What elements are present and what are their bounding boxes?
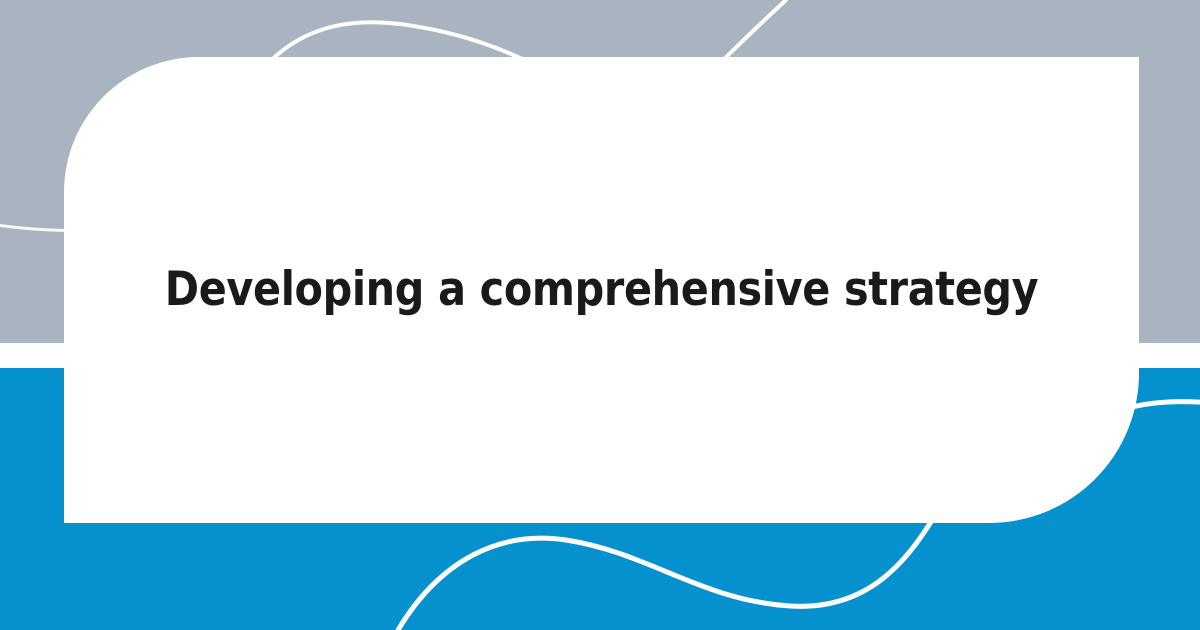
page-title: Developing a comprehensive strategy xyxy=(129,262,1075,318)
slide-canvas: Developing a comprehensive strategy xyxy=(0,0,1200,630)
